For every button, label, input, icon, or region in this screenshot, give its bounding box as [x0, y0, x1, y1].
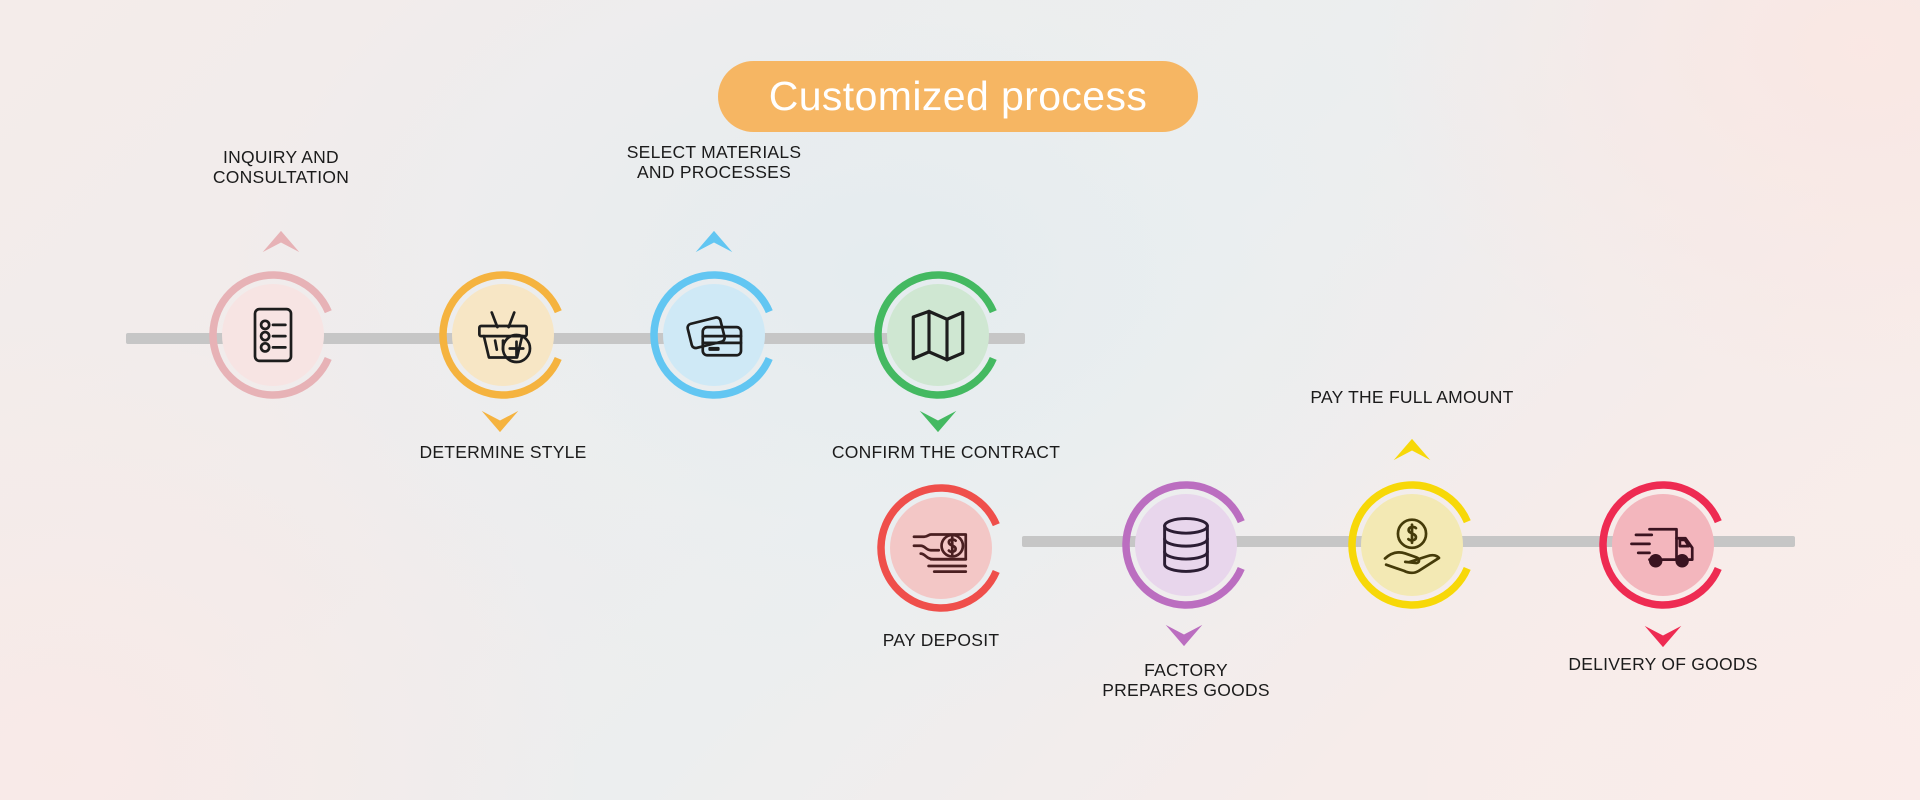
page-title-pill: Customized process: [718, 61, 1198, 132]
page-title: Customized process: [769, 76, 1148, 117]
folded-map-icon: [902, 299, 974, 371]
step-label-pay-deposit: PAY DEPOSIT: [883, 631, 1000, 651]
step-chevron-down-confirm-the-contract: [916, 408, 960, 435]
infographic-canvas: Customized process INQUIRY AND CONSULTAT…: [0, 0, 1920, 800]
step-chevron-up-select-materials-and-processes: [692, 228, 736, 255]
step-label-pay-the-full-amount: PAY THE FULL AMOUNT: [1310, 388, 1513, 408]
step-label-select-materials-and-processes: SELECT MATERIALS AND PROCESSES: [627, 143, 802, 182]
hand-cash-icon: [905, 512, 977, 584]
step-label-factory-prepares-goods: FACTORY PREPARES GOODS: [1102, 661, 1270, 700]
shopping-basket-add-icon: [467, 299, 539, 371]
step-chevron-down-factory-prepares-goods: [1162, 622, 1206, 649]
step-label-inquiry-and-consultation: INQUIRY AND CONSULTATION: [213, 148, 349, 187]
step-chevron-up-pay-the-full-amount: [1390, 436, 1434, 463]
step-chevron-down-determine-style: [478, 408, 522, 435]
checklist-document-icon: [237, 299, 309, 371]
step-chevron-down-delivery-of-goods: [1641, 623, 1685, 650]
step-label-delivery-of-goods: DELIVERY OF GOODS: [1568, 655, 1757, 675]
payment-cards-icon: [678, 299, 750, 371]
step-label-determine-style: DETERMINE STYLE: [419, 443, 586, 463]
hand-coin-icon: [1376, 509, 1448, 581]
step-chevron-up-inquiry-and-consultation: [259, 228, 303, 255]
delivery-truck-icon: [1627, 509, 1699, 581]
step-label-confirm-the-contract: CONFIRM THE CONTRACT: [832, 443, 1060, 463]
database-stack-icon: [1150, 509, 1222, 581]
